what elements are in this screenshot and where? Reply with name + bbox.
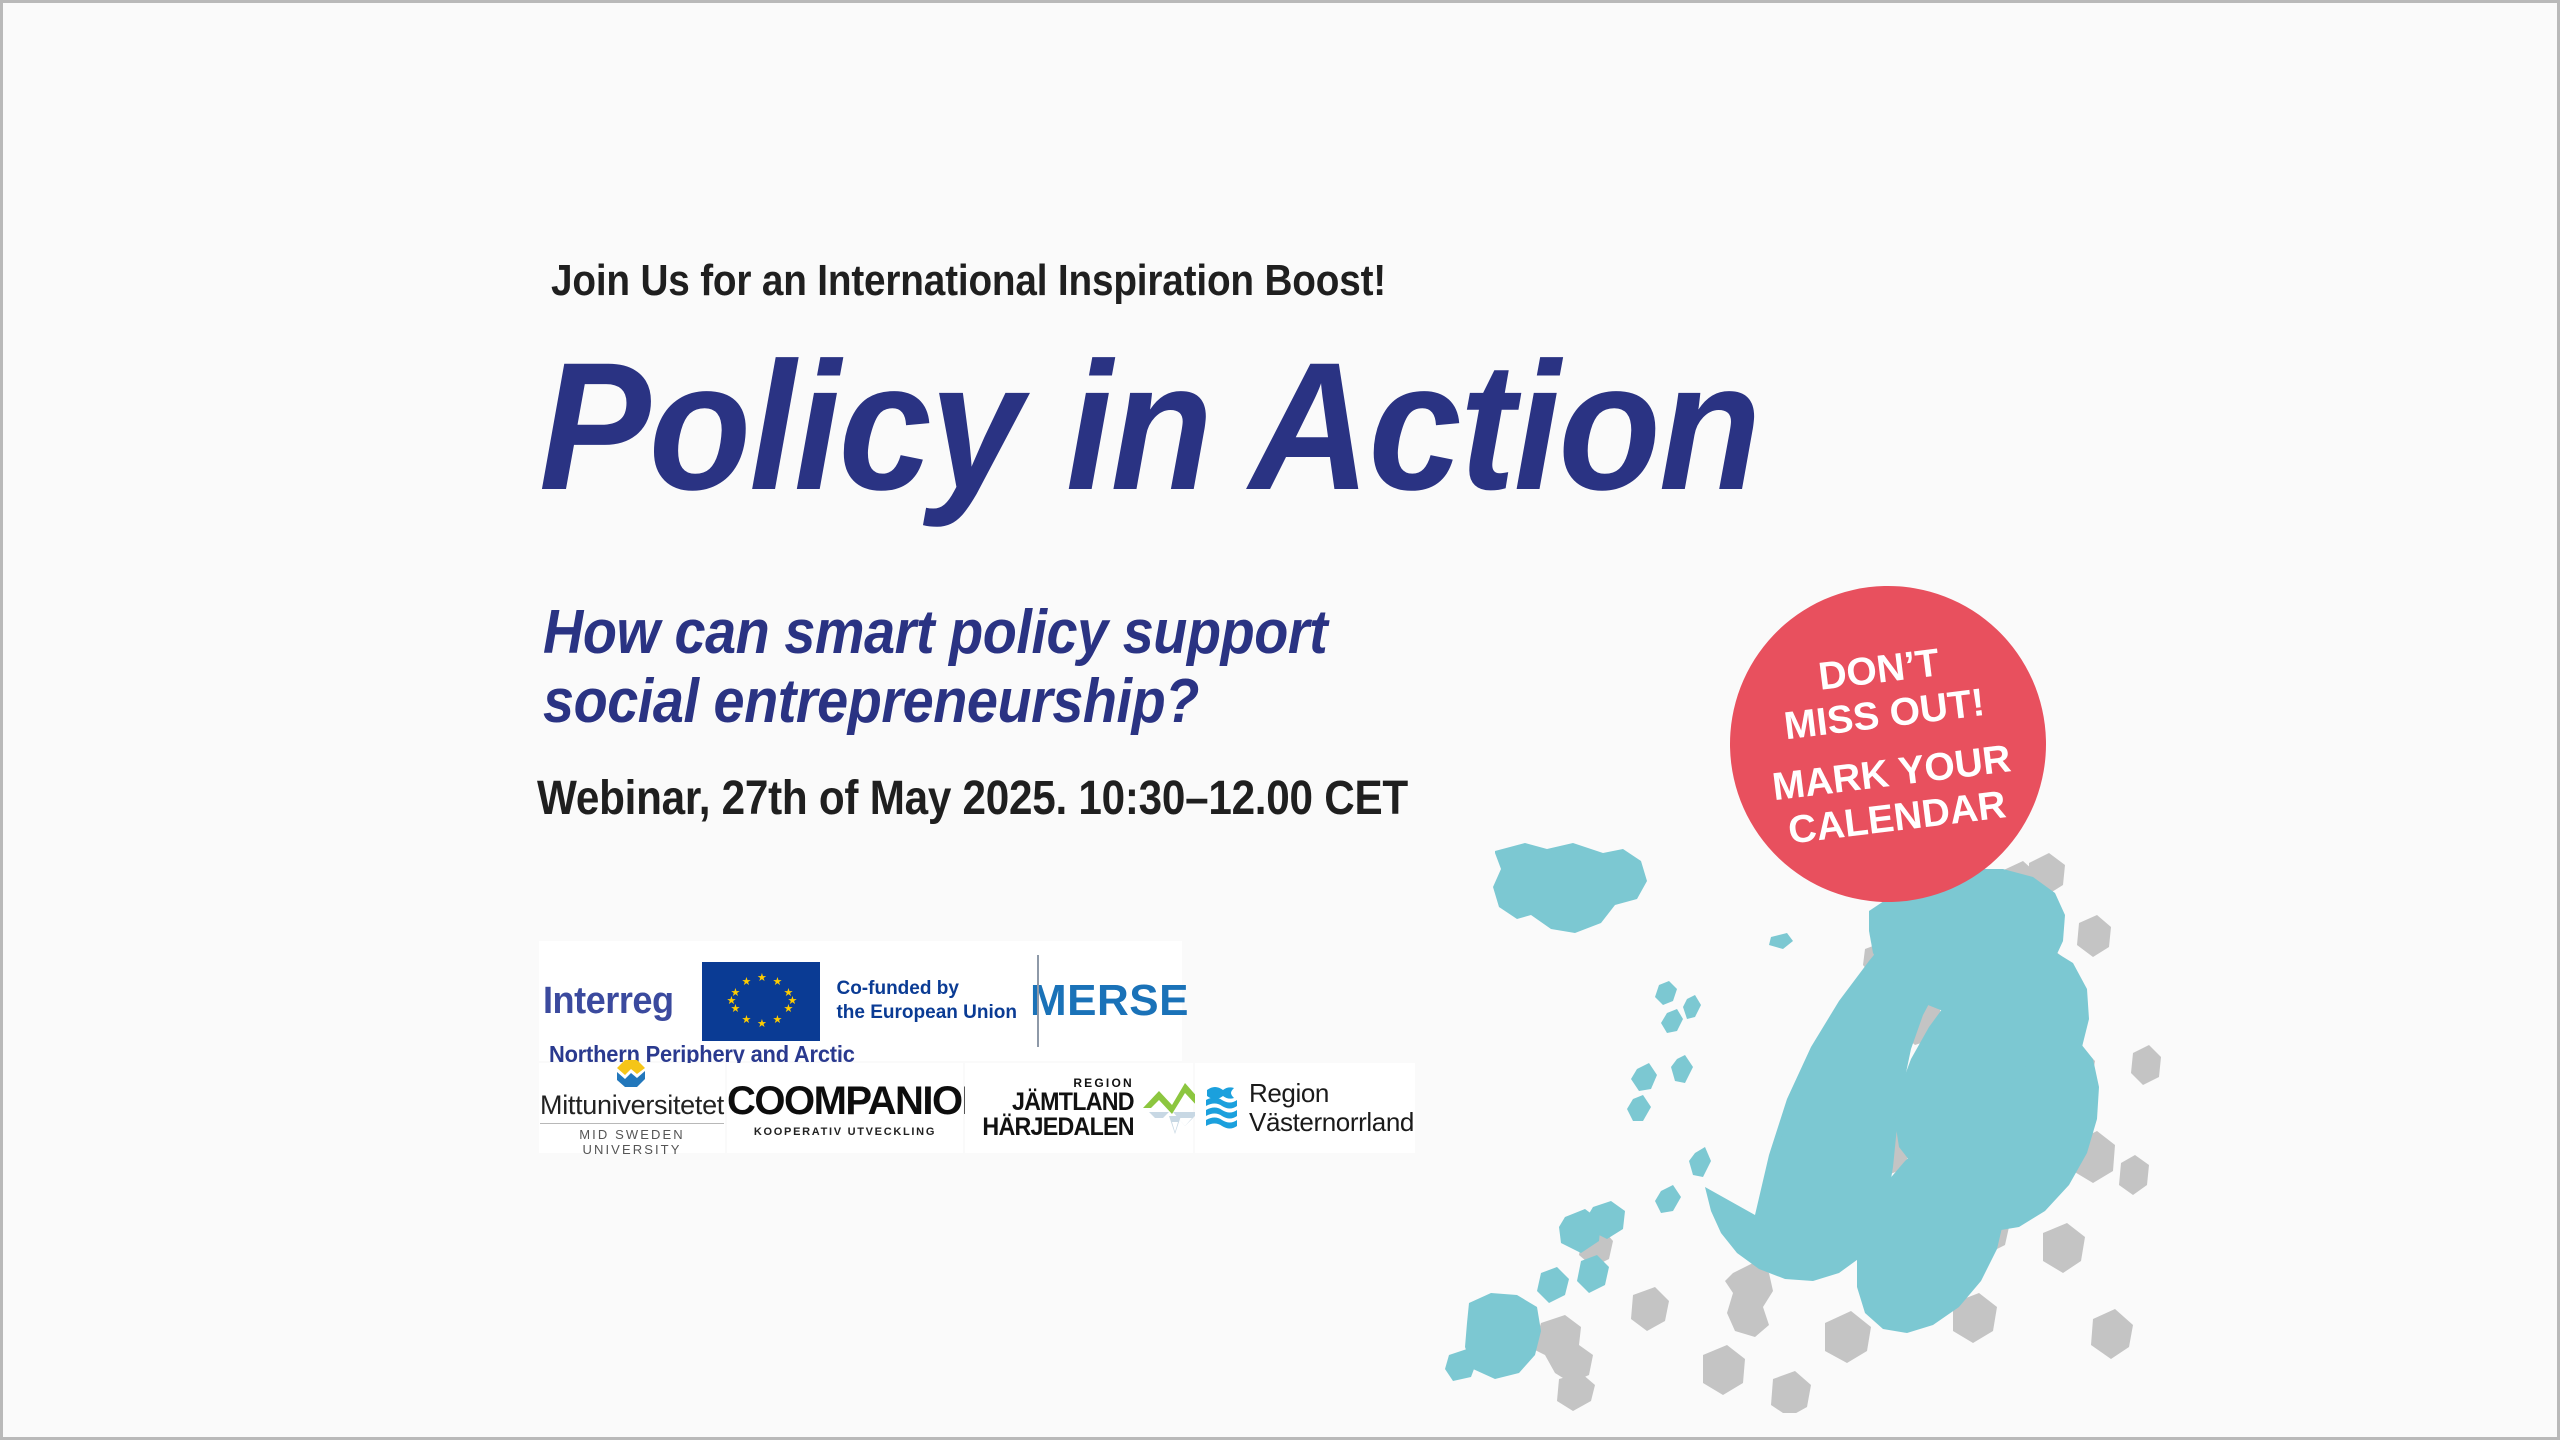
npa-region-map	[1433, 803, 2163, 1413]
eu-funding-text: Co-funded by the European Union	[836, 977, 1017, 1026]
region-jamtland-harjedalen-logo: REGION JÄMTLAND HÄRJEDALEN	[965, 1063, 1193, 1153]
webinar-poster: Join Us for an International Inspiration…	[0, 0, 2560, 1440]
page-title: Policy in Action	[539, 335, 1759, 517]
coompanion-wordmark: COOMPANION	[727, 1079, 963, 1124]
miun-tagline: MID SWEDEN UNIVERSITY	[539, 1127, 725, 1157]
map-npa-area-teal	[1445, 839, 2099, 1381]
eu-flag-icon: ★ ★ ★ ★ ★ ★ ★ ★ ★ ★ ★ ★	[702, 962, 820, 1041]
miun-mark-icon	[611, 1059, 653, 1089]
jamtland-name-line-2: HÄRJEDALEN	[982, 1115, 1133, 1140]
event-dateline: Webinar, 27th of May 2025. 10:30–12.00 C…	[537, 771, 1408, 826]
jamtland-name-line-1: JÄMTLAND	[982, 1090, 1133, 1115]
subtitle-line-2: social entrepreneurship?	[543, 667, 1327, 736]
vasternorrland-line-1: Region	[1249, 1079, 1414, 1108]
eu-funding-line-2: the European Union	[836, 1001, 1017, 1025]
eyebrow-text: Join Us for an International Inspiration…	[551, 256, 1386, 306]
merse-wordmark: MERSE	[1030, 976, 1189, 1026]
subtitle-line-1: How can smart policy support	[543, 598, 1327, 667]
mittuniversitetet-logo: Mittuniversitetet MID SWEDEN UNIVERSITY	[539, 1063, 725, 1153]
vasternorrland-fish-waves-icon	[1203, 1082, 1239, 1134]
vasternorrland-line-2: Västernorrland	[1249, 1108, 1414, 1137]
region-vasternorrland-logo: Region Västernorrland	[1195, 1063, 1415, 1153]
miun-wordmark: Mittuniversitetet	[540, 1090, 724, 1124]
coompanion-logo: COOMPANION KOOPERATIV UTVECKLING	[727, 1063, 963, 1153]
subtitle: How can smart policy support social entr…	[543, 598, 1327, 737]
eu-funding-line-1: Co-funded by	[836, 977, 1017, 1001]
logo-divider	[1037, 955, 1039, 1047]
merse-logo: MERSE	[1037, 941, 1182, 1061]
interreg-wordmark: Interreg	[543, 980, 674, 1023]
vasternorrland-wordmark: Region Västernorrland	[1249, 1079, 1414, 1137]
coompanion-tagline: KOOPERATIV UTVECKLING	[727, 1126, 963, 1138]
